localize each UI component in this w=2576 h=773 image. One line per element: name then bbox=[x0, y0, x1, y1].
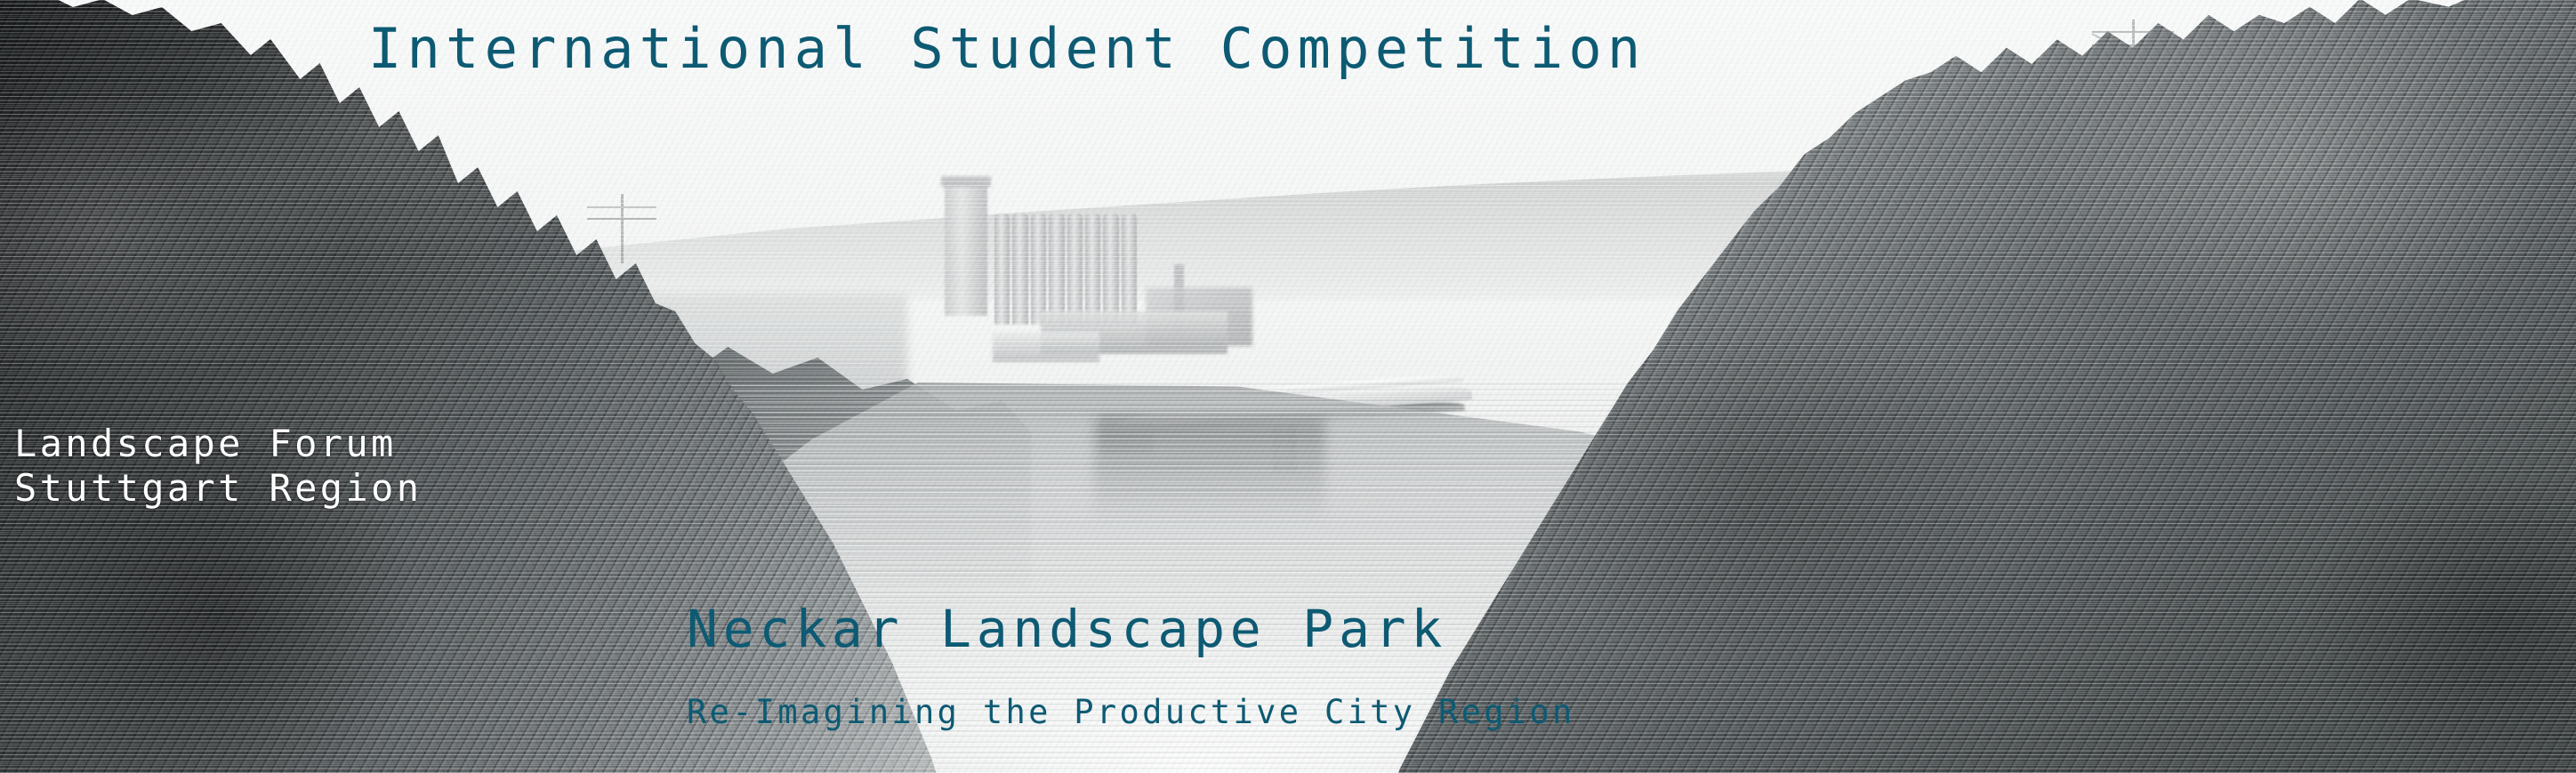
grain-tower bbox=[945, 182, 987, 316]
project-subtitle: Re-Imagining the Productive City Region bbox=[687, 696, 1575, 729]
organizer-line-1: Landscape Forum bbox=[14, 422, 422, 466]
organizer-block: Landscape Forum Stuttgart Region bbox=[14, 422, 422, 510]
competition-banner: International Student Competition Landsc… bbox=[0, 0, 2576, 773]
warehouse-shed-secondary bbox=[993, 332, 1099, 362]
industrial-complex bbox=[907, 182, 1281, 396]
project-title: Neckar Landscape Park bbox=[687, 603, 1447, 655]
competition-headline: International Student Competition bbox=[368, 21, 1646, 76]
silo-row bbox=[994, 213, 1137, 325]
organizer-line-2: Stuttgart Region bbox=[14, 466, 422, 511]
